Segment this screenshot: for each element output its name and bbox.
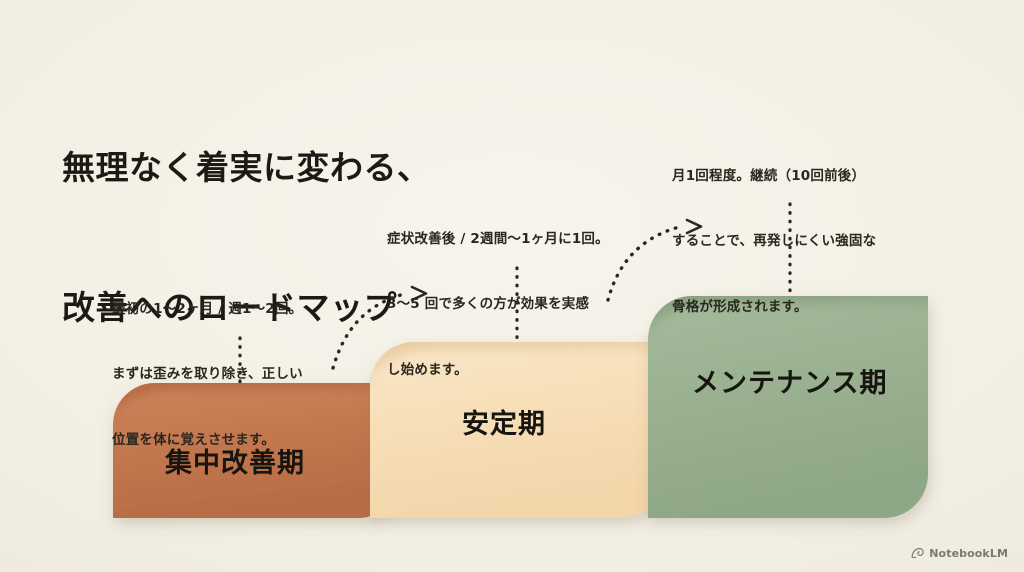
step-note-2-line-3: し始めます。 bbox=[387, 360, 609, 382]
step-note-3-line-2: することで、再発しにくい強固な bbox=[672, 231, 876, 253]
slide-canvas: 無理なく着実に変わる、 改善へのロードマップ bbox=[0, 0, 1024, 572]
step-note-2-line-1: 症状改善後 / 2週間〜1ヶ月に1回。 bbox=[387, 229, 609, 251]
step-note-3-line-3: 骨格が形成されます。 bbox=[672, 297, 876, 319]
notebooklm-watermark: NotebookLM bbox=[911, 547, 1008, 560]
step-note-2: 症状改善後 / 2週間〜1ヶ月に1回。 3〜5 回で多くの方が効果を実感 し始め… bbox=[387, 185, 609, 425]
step-note-3-line-1: 月1回程度。継続（10回前後） bbox=[672, 166, 876, 188]
notebooklm-watermark-label: NotebookLM bbox=[929, 547, 1008, 560]
step-note-1-line-1: 最初の1〜2ヶ月 / 週1〜2回。 bbox=[112, 299, 303, 321]
step-note-1-line-3: 位置を体に覚えさせます。 bbox=[112, 430, 303, 452]
step-label-3: メンテナンス期 bbox=[692, 361, 887, 400]
step-note-2-line-2: 3〜5 回で多くの方が効果を実感 bbox=[387, 294, 609, 316]
step-note-3: 月1回程度。継続（10回前後） することで、再発しにくい強固な 骨格が形成されま… bbox=[672, 122, 876, 362]
notebooklm-spiral-icon bbox=[911, 547, 924, 560]
step-note-1: 最初の1〜2ヶ月 / 週1〜2回。 まずは歪みを取り除き、正しい 位置を体に覚え… bbox=[112, 255, 303, 495]
step-note-1-line-2: まずは歪みを取り除き、正しい bbox=[112, 364, 303, 386]
